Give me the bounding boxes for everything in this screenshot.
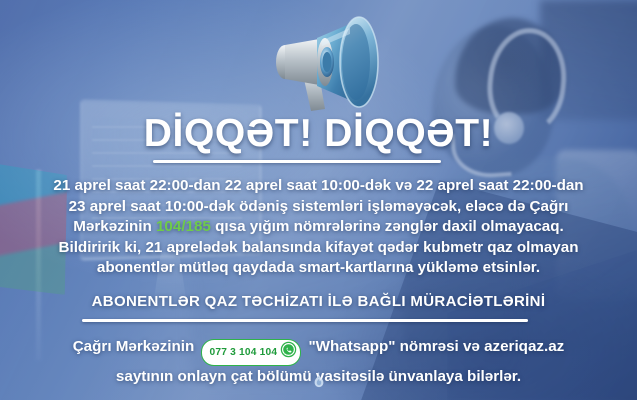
body-line-2: 23 aprel saat 10:00-dək ödəniş sistemlər… <box>69 198 569 215</box>
poster-content: DİQQƏT! DİQQƏT! 21 aprel saat 22:00-dan … <box>0 0 637 400</box>
announcement-body: 21 aprel saat 22:00-dan 22 aprel saat 10… <box>22 176 615 279</box>
announcement-poster: DİQQƏT! DİQQƏT! 21 aprel saat 22:00-dan … <box>0 0 637 400</box>
subheading: ABONENTLƏR QAZ TƏCHİZATI İLƏ BAĞLI MÜRAC… <box>0 293 637 310</box>
page-title: DİQQƏT! DİQQƏT! <box>0 112 637 156</box>
short-numbers-highlight: 104/185 <box>156 218 211 235</box>
contact-prefix: Çağrı Mərkəzinin <box>73 338 195 355</box>
subheading-divider <box>82 319 528 322</box>
body-line-4: Bildiririk ki, 21 aprelədək balansında k… <box>59 239 579 256</box>
contact-suffix: "Whatsapp" nömrəsi və azeriqaz.az <box>308 338 564 355</box>
whatsapp-icon <box>280 341 297 364</box>
gas-flame-icon <box>310 371 327 396</box>
body-line-1: 21 aprel saat 22:00-dan 22 aprel saat 10… <box>53 177 583 194</box>
whatsapp-phone-badge[interactable]: 077 3 104 104 <box>201 339 301 366</box>
body-line-3-suffix: qısa yığım nömrələrinə zənglər daxil olm… <box>215 218 564 235</box>
body-line-5: abonentlər mütləq qaydada smart-kartları… <box>97 259 540 276</box>
contact-line-1: Çağrı Mərkəzinin 077 3 104 104 "Whatsapp… <box>22 336 615 366</box>
body-line-3-prefix: Mərkəzinin <box>73 218 152 235</box>
phone-number: 077 3 104 104 <box>209 342 277 363</box>
headline-divider <box>153 160 441 163</box>
